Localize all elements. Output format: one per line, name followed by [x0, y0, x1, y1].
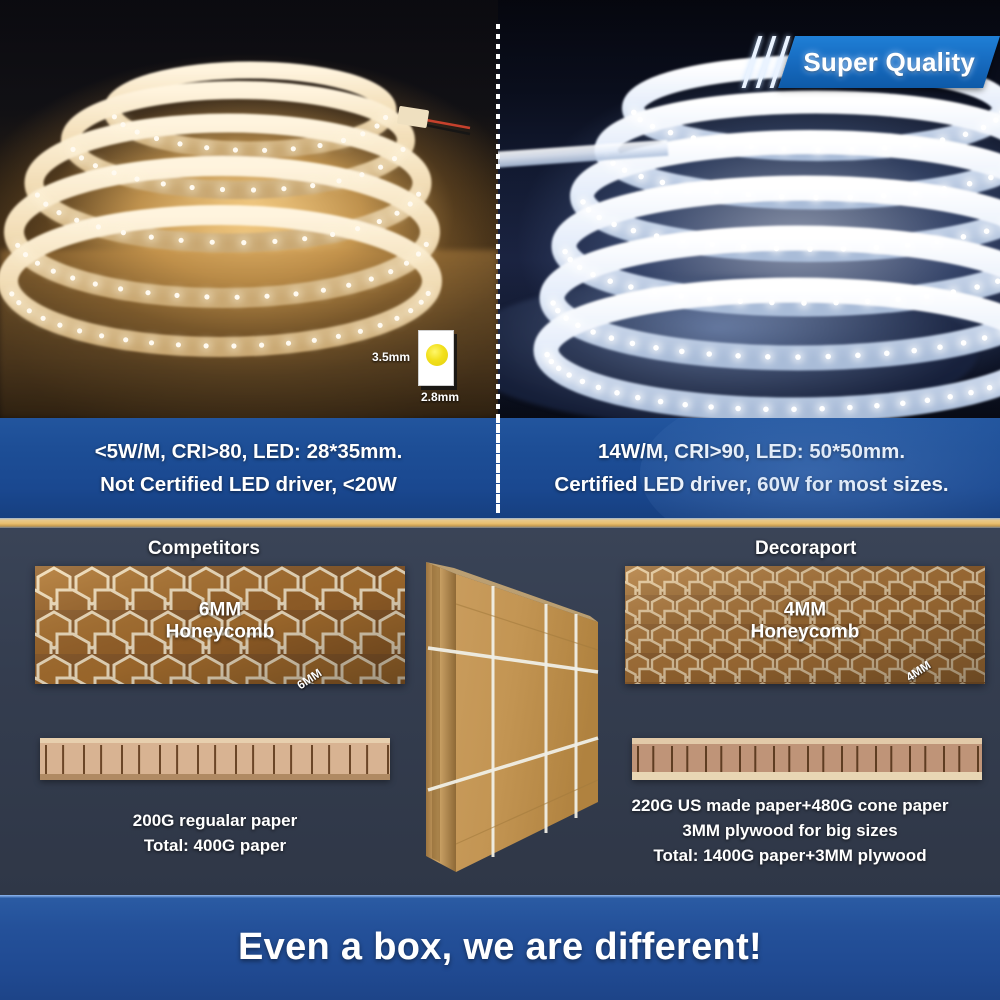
- honeycomb-size-competitors: 6MM: [35, 600, 405, 622]
- decoraport-detail-line1: 220G US made paper+480G cone paper: [580, 793, 1000, 818]
- spec-right-line1: 14W/M, CRI>90, LED: 50*50mm.: [598, 440, 905, 464]
- chip-package-shape: [418, 330, 454, 386]
- spec-left-line2: Not Certified LED driver, <20W: [100, 473, 397, 497]
- cross-section-cells-fine: [632, 738, 982, 780]
- badge-diagonal-stripes: [742, 36, 812, 88]
- super-quality-label: Super Quality: [803, 47, 975, 78]
- decoraport-detail-line2: 3MM plywood for big sizes: [580, 818, 1000, 843]
- specification-band: <5W/M, CRI>80, LED: 28*35mm. Not Certifi…: [0, 418, 1000, 518]
- chip-width-label: 2.8mm: [421, 390, 459, 404]
- competitors-detail-line1: 200G regualar paper: [30, 808, 400, 833]
- spec-column-decoraport: 14W/M, CRI>90, LED: 50*50mm. Certified L…: [503, 418, 1000, 518]
- chip-height-label: 3.5mm: [372, 350, 410, 364]
- competitors-detail-line2: Total: 400G paper: [30, 833, 400, 858]
- honeycomb-overlay-label-decoraport: 4MM Honeycomb: [625, 600, 985, 644]
- honeycomb-size-decoraport: 4MM: [625, 600, 985, 622]
- warm-white-strip-photo: 3.5mm 2.8mm: [0, 0, 498, 418]
- tagline-text: Even a box, we are different!: [238, 926, 762, 969]
- spec-left-line1: <5W/M, CRI>80, LED: 28*35mm.: [95, 440, 403, 464]
- packaging-details-competitors: 200G regualar paper Total: 400G paper: [30, 808, 400, 858]
- led-strip-comparison-infographic: 3.5mm 2.8mm: [0, 0, 1000, 1000]
- decoraport-detail-line3: Total: 1400G paper+3MM plywood: [580, 843, 1000, 868]
- packaging-title-competitors: Competitors: [148, 538, 260, 560]
- honeycomb-photo-competitors: 6MM Honeycomb: [35, 566, 405, 684]
- board-cross-section-decoraport: [632, 738, 982, 780]
- honeycomb-word-decoraport: Honeycomb: [625, 622, 985, 644]
- photo-comparison-row: 3.5mm 2.8mm: [0, 0, 1000, 418]
- board-cross-section-competitors: [40, 738, 390, 780]
- cross-section-cells-coarse: [40, 738, 390, 780]
- packaging-details-decoraport: 220G US made paper+480G cone paper 3MM p…: [580, 793, 1000, 868]
- chip-phosphor-dot: [426, 344, 448, 366]
- led-chip-callout-2835: 3.5mm 2.8mm: [418, 330, 454, 386]
- honeycomb-word-competitors: Honeycomb: [35, 622, 405, 644]
- vertical-dotted-divider: [496, 24, 500, 514]
- gold-divider-rule: [0, 518, 1000, 528]
- spec-right-line2: Certified LED driver, 60W for most sizes…: [554, 473, 948, 497]
- bottom-tagline-banner: Even a box, we are different!: [0, 895, 1000, 1000]
- packaging-title-decoraport: Decoraport: [755, 538, 856, 560]
- honeycomb-overlay-label-competitors: 6MM Honeycomb: [35, 600, 405, 644]
- spec-column-competitor: <5W/M, CRI>80, LED: 28*35mm. Not Certifi…: [0, 418, 497, 518]
